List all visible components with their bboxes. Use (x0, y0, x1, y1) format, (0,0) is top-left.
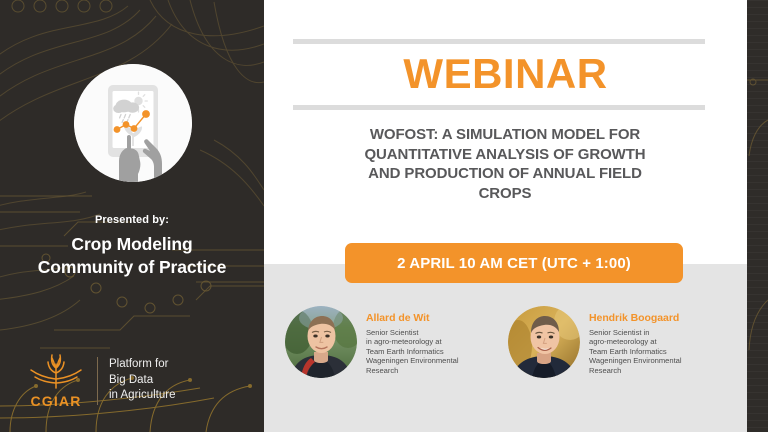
cgiar-emblem-icon: CGIAR (24, 352, 88, 409)
speaker-name: Hendrik Boogaard (589, 312, 682, 324)
speaker-bio: Senior Scientist in agro-meteorology at … (366, 328, 459, 376)
hero-illustration (74, 64, 192, 182)
avatar (508, 306, 580, 378)
presented-by-block: Presented by: Crop Modeling Community of… (0, 214, 264, 279)
cgiar-wordmark: CGIAR (24, 393, 88, 409)
logo-tagline: Platform for Big Data in Agriculture (109, 357, 175, 404)
speaker-bio-line: Team Earth Informatics (366, 347, 459, 357)
speaker-bio-line: Team Earth Informatics (589, 347, 682, 357)
organization-line-1: Crop Modeling (0, 233, 264, 256)
speaker-info: Allard de Wit Senior Scientist in agro-m… (366, 306, 459, 375)
subtitle-line-4: CROPS (300, 184, 710, 204)
logo-tagline-line-3: in Agriculture (109, 388, 175, 404)
logo-tagline-line-2: Big Data (109, 373, 175, 389)
speaker-bio-line: Wageningen Environmental (589, 356, 682, 366)
edge-trace-pattern (747, 0, 768, 432)
speaker-bio-line: in agro-meteorology at (366, 337, 459, 347)
webinar-subtitle: WOFOST: A SIMULATION MODEL FOR QUANTITAT… (300, 125, 710, 203)
speaker-bio-line: Research (366, 366, 459, 376)
avatar (285, 306, 357, 378)
speaker-bio-line: Wageningen Environmental (366, 356, 459, 366)
right-edge-accent-strip (747, 0, 768, 432)
logo-divider (97, 357, 98, 405)
webinar-poster: Presented by: Crop Modeling Community of… (0, 0, 768, 432)
speaker-bio-line: agro-meteorology at (589, 337, 682, 347)
speaker-bio-line: Senior Scientist in (589, 328, 682, 338)
subtitle-line-2: QUANTITATIVE ANALYSIS OF GROWTH (300, 145, 710, 165)
speaker-bio-line: Research (589, 366, 682, 376)
logo-tagline-line-1: Platform for (109, 357, 175, 373)
organization-line-2: Community of Practice (0, 256, 264, 279)
branding-panel: Presented by: Crop Modeling Community of… (0, 0, 264, 432)
page-title: WEBINAR (264, 49, 747, 99)
cgiar-logo: CGIAR Platform for Big Data in Agricultu… (24, 352, 175, 409)
speaker-card: Allard de Wit Senior Scientist in agro-m… (285, 306, 459, 378)
title-rule-top (293, 39, 705, 44)
subtitle-line-3: AND PRODUCTION OF ANNUAL FIELD (300, 164, 710, 184)
speaker-bio-line: Senior Scientist (366, 328, 459, 338)
speakers-section: Allard de Wit Senior Scientist in agro-m… (264, 303, 747, 413)
speaker-bio: Senior Scientist in agro-meteorology at … (589, 328, 682, 376)
title-rule-bottom (293, 105, 705, 110)
speaker-name: Allard de Wit (366, 312, 459, 324)
presented-by-label: Presented by: (0, 214, 264, 226)
date-time-banner: 2 APRIL 10 AM CET (UTC + 1:00) (345, 243, 683, 283)
speaker-info: Hendrik Boogaard Senior Scientist in agr… (589, 306, 682, 375)
speaker-card: Hendrik Boogaard Senior Scientist in agr… (508, 306, 682, 378)
subtitle-line-1: WOFOST: A SIMULATION MODEL FOR (300, 125, 710, 145)
